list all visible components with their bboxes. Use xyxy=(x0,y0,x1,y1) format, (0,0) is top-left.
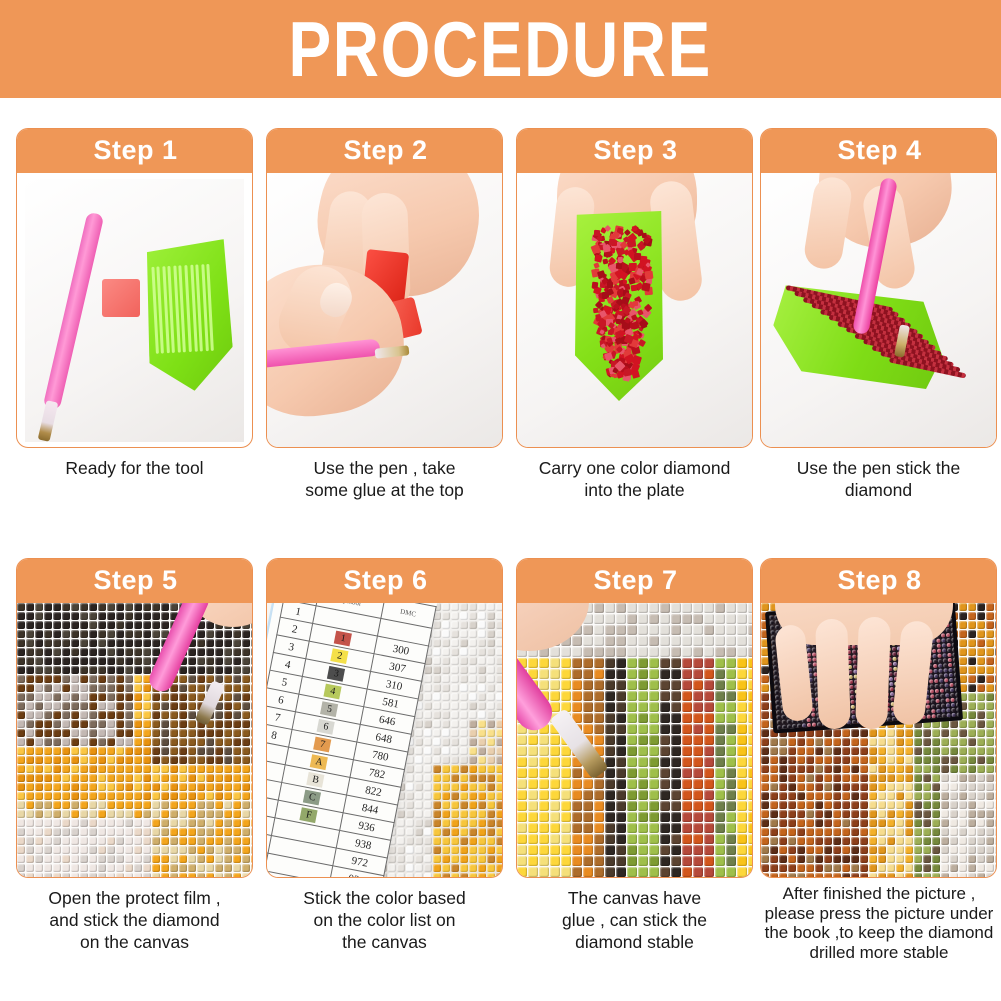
step-2-card-frame: Step 2 xyxy=(266,128,503,448)
symbol-swatch xyxy=(338,611,356,627)
step-2-caption: Use the pen , take some glue at the top xyxy=(266,458,503,502)
step-5-label: Step 5 xyxy=(93,565,177,596)
symbol-swatch: 4 xyxy=(324,684,342,700)
step-5-caption: Open the protect film , and stick the di… xyxy=(16,888,253,954)
step-7-header: Step 7 xyxy=(516,558,753,603)
symbol-swatch: C xyxy=(303,790,321,806)
step-6-header: Step 6 xyxy=(266,558,503,603)
step-7-caption: The canvas have glue , can stick the dia… xyxy=(516,888,753,954)
step-8-photo xyxy=(761,603,996,878)
step-3-label: Step 3 xyxy=(593,135,677,166)
step-card-8: Step 8 After finished the picture , plea… xyxy=(760,558,997,878)
symbol-swatch: 2 xyxy=(331,648,349,664)
steps-row-bottom: Step 5 Open the protect film , and stick… xyxy=(0,558,1001,998)
step-6-caption: Stick the color based on the color list … xyxy=(266,888,503,954)
step-5-header: Step 5 xyxy=(16,558,253,603)
symbol-swatch: A xyxy=(310,754,328,770)
symbol-swatch: 7 xyxy=(313,737,331,753)
step-card-2: Step 2 Use the pen , take some glue at xyxy=(266,128,503,448)
symbol-swatch xyxy=(290,859,308,875)
step-4-label: Step 4 xyxy=(837,135,921,166)
step-6-label: Step 6 xyxy=(343,565,427,596)
step-8-card-frame: Step 8 xyxy=(760,558,997,878)
symbol-swatch: F xyxy=(300,807,318,823)
step-4-card-frame: Step 4 xyxy=(760,128,997,448)
step-8-caption: After finished the picture , please pres… xyxy=(754,884,1001,963)
page-title: PROCEDURE xyxy=(289,10,712,88)
step-2-label: Step 2 xyxy=(343,135,427,166)
step-1-card-frame: Step 1 xyxy=(16,128,253,448)
diamond-mosaic xyxy=(17,603,252,878)
step-card-4: Step 4 Use the pen stick the diamond xyxy=(760,128,997,448)
step-4-caption: Use the pen stick the diamond xyxy=(760,458,997,502)
step-8-label: Step 8 xyxy=(837,565,921,596)
step-3-caption: Carry one color diamond into the plate xyxy=(516,458,753,502)
symbol-swatch: 3 xyxy=(327,666,345,682)
step-card-7: Step 7 The canvas have glue , can stick … xyxy=(516,558,753,878)
step-2-header: Step 2 xyxy=(266,128,503,173)
symbol-swatch: B xyxy=(307,772,325,788)
page-header-banner: PROCEDURE xyxy=(0,0,1001,98)
step-1-header: Step 1 xyxy=(16,128,253,173)
step-1-photo xyxy=(25,179,244,442)
step-7-card-frame: Step 7 xyxy=(516,558,753,878)
symbol-swatch: 6 xyxy=(317,719,335,735)
finger-icon xyxy=(815,618,851,729)
step-4-photo xyxy=(761,173,996,448)
step-3-header: Step 3 xyxy=(516,128,753,173)
steps-grid: Step 1 Ready for the tool Step 2 xyxy=(0,98,1001,1001)
step-2-photo xyxy=(267,173,502,448)
symbol-swatch: 1 xyxy=(334,631,352,647)
steps-row-top: Step 1 Ready for the tool Step 2 xyxy=(0,128,1001,558)
step-1-label: Step 1 xyxy=(93,135,177,166)
glue-square-icon xyxy=(102,279,140,317)
step-5-photo xyxy=(17,603,252,878)
step-card-6: Step 6 No Symbol DMC xyxy=(266,558,503,878)
step-3-card-frame: Step 3 xyxy=(516,128,753,448)
step-card-3: Step 3 Carry one color diamond into the … xyxy=(516,128,753,448)
step-8-header: Step 8 xyxy=(760,558,997,603)
symbol-swatch xyxy=(293,841,311,857)
step-4-header: Step 4 xyxy=(760,128,997,173)
step-5-card-frame: Step 5 xyxy=(16,558,253,878)
step-7-label: Step 7 xyxy=(593,565,677,596)
symbol-swatch: 5 xyxy=(320,701,338,717)
step-6-card-frame: Step 6 No Symbol DMC xyxy=(266,558,503,878)
step-card-5: Step 5 Open the protect film , and stick… xyxy=(16,558,253,878)
step-1-caption: Ready for the tool xyxy=(16,458,253,480)
step-7-photo xyxy=(517,603,752,878)
symbol-swatch xyxy=(297,824,315,840)
step-card-1: Step 1 Ready for the tool xyxy=(16,128,253,448)
finger-icon xyxy=(855,616,891,729)
step-3-photo xyxy=(517,173,752,448)
step-6-photo: No Symbol DMC 12130032307433105458165646… xyxy=(267,603,502,878)
